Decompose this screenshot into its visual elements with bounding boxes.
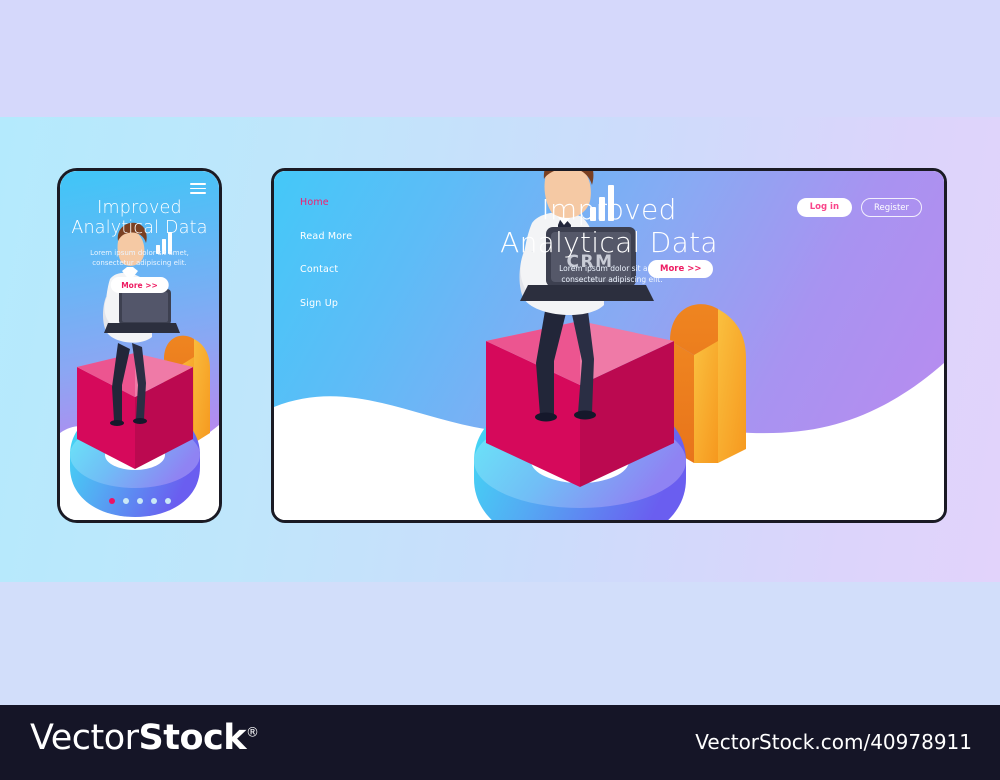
vectorstock-logo: VectorStock®: [30, 718, 259, 758]
hamburger-icon[interactable]: [190, 183, 206, 194]
mobile-screen: Improved Analytical Data Lorem ipsum dol…: [60, 171, 219, 520]
watermark-url: VectorStock.com/40978911: [695, 730, 972, 754]
mobile-subtitle-line-1: Lorem ipsum dolor sit amet,: [60, 248, 219, 258]
background-band-top: [0, 0, 1000, 117]
pagination-dot-1[interactable]: [109, 498, 115, 504]
mobile-subtitle: Lorem ipsum dolor sit amet, consectetur …: [60, 248, 219, 268]
mobile-device-frame[interactable]: Improved Analytical Data Lorem ipsum dol…: [57, 168, 222, 523]
nav-item-contact[interactable]: Contact: [300, 264, 352, 275]
mobile-more-button[interactable]: More >>: [110, 277, 169, 293]
logo-text-vector: Vector: [30, 718, 139, 758]
auth-button-group: Log in Register: [797, 198, 922, 217]
login-button[interactable]: Log in: [797, 198, 852, 217]
hamburger-line-2: [190, 188, 206, 190]
nav-item-sign-up[interactable]: Sign Up: [300, 298, 352, 309]
hamburger-line-1: [190, 183, 206, 185]
pagination-dot-3[interactable]: [137, 498, 143, 504]
pagination-dot-4[interactable]: [151, 498, 157, 504]
mobile-page-title: Improved Analytical Data: [60, 198, 219, 238]
background-band-lower: [0, 582, 1000, 705]
mobile-subtitle-line-2: consectetur adipiscing elit.: [60, 258, 219, 268]
mobile-title-line-1: Improved: [60, 198, 219, 218]
desktop-device-frame[interactable]: CRM Home Read More Contact Sign Up Impro…: [271, 168, 947, 523]
pagination-dot-2[interactable]: [123, 498, 129, 504]
desktop-title-line-2: Analytical Data: [274, 226, 944, 259]
mobile-title-line-2: Analytical Data: [60, 218, 219, 238]
desktop-more-button[interactable]: More >>: [648, 260, 713, 278]
pagination-dot-5[interactable]: [165, 498, 171, 504]
desktop-screen: CRM Home Read More Contact Sign Up Impro…: [274, 171, 944, 520]
logo-text-stock: Stock: [139, 718, 247, 758]
logo-registered-mark: ®: [246, 725, 259, 740]
mobile-pagination-dots[interactable]: [60, 498, 219, 504]
register-button[interactable]: Register: [861, 198, 922, 217]
hamburger-line-3: [190, 192, 206, 194]
